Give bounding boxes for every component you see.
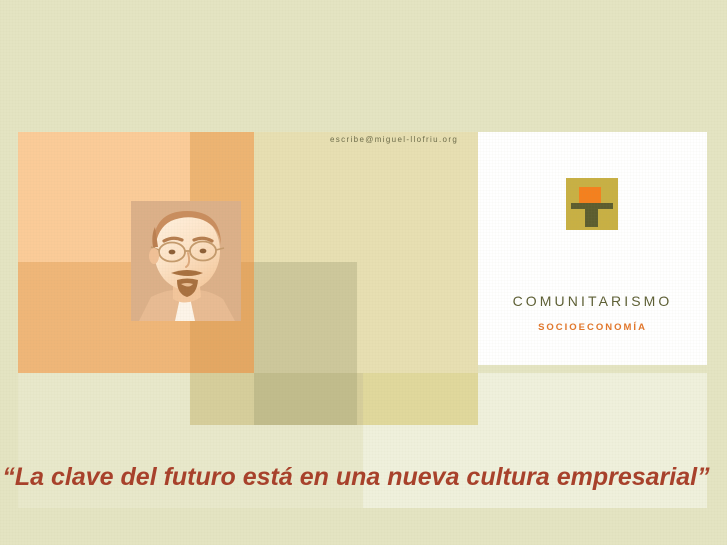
portrait-photo (131, 201, 241, 321)
logo-orange-accent-icon (579, 187, 601, 203)
portrait-illustration (131, 201, 241, 321)
slide-canvas: COMUNITARISMO SOCIOECONOMÍA escribe@migu… (0, 0, 727, 545)
logo-tee-stem-icon (585, 209, 598, 227)
olive-translucent-overlay (254, 262, 357, 425)
olive-band-right (363, 373, 478, 425)
tagline-quote: “La clave del futuro está en una nueva c… (0, 463, 712, 492)
logo-mark (566, 178, 618, 230)
contact-email[interactable]: escribe@miguel-llofriu.org (330, 135, 458, 144)
brand-subtitle: SOCIOECONOMÍA (478, 322, 707, 333)
brand-title: COMUNITARISMO (478, 293, 707, 309)
